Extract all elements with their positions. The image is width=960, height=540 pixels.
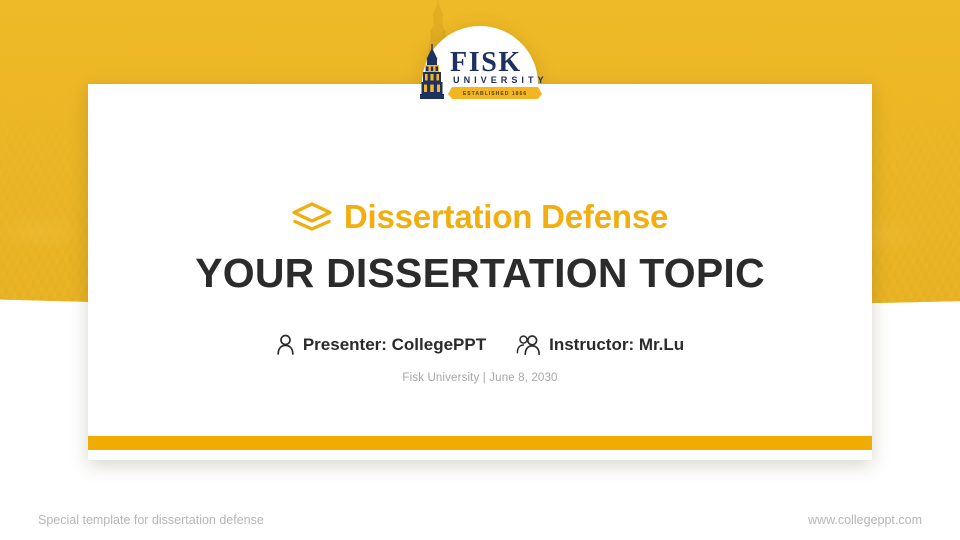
instructor-label: Instructor: Mr.Lu — [549, 335, 684, 355]
slide-canvas: FISK UNIVERSITY ESTABLISHED 1866 Dissert… — [0, 0, 960, 540]
kicker-label: Dissertation Defense — [344, 200, 668, 233]
footer-website-text: www.collegeppt.com — [808, 513, 922, 527]
kicker-row: Dissertation Defense — [292, 200, 668, 233]
presenter-item: Presenter: CollegePPT — [276, 334, 486, 355]
people-group-icon — [516, 334, 541, 355]
person-icon — [276, 334, 295, 355]
university-date-line: Fisk University | June 8, 2030 — [402, 372, 557, 384]
graduation-cap-icon — [292, 202, 332, 232]
footer-left-text: Special template for dissertation defens… — [38, 513, 264, 527]
dissertation-topic-title: YOUR DISSERTATION TOPIC — [195, 252, 765, 295]
instructor-item: Instructor: Mr.Lu — [516, 334, 684, 355]
logo-wordmark: FISK — [450, 47, 522, 78]
card-content: Dissertation Defense YOUR DISSERTATION T… — [88, 84, 872, 460]
presenter-label: Presenter: CollegePPT — [303, 335, 486, 355]
title-card: FISK UNIVERSITY ESTABLISHED 1866 Dissert… — [88, 84, 872, 460]
people-row: Presenter: CollegePPT Instructor: Mr.Lu — [276, 334, 684, 355]
